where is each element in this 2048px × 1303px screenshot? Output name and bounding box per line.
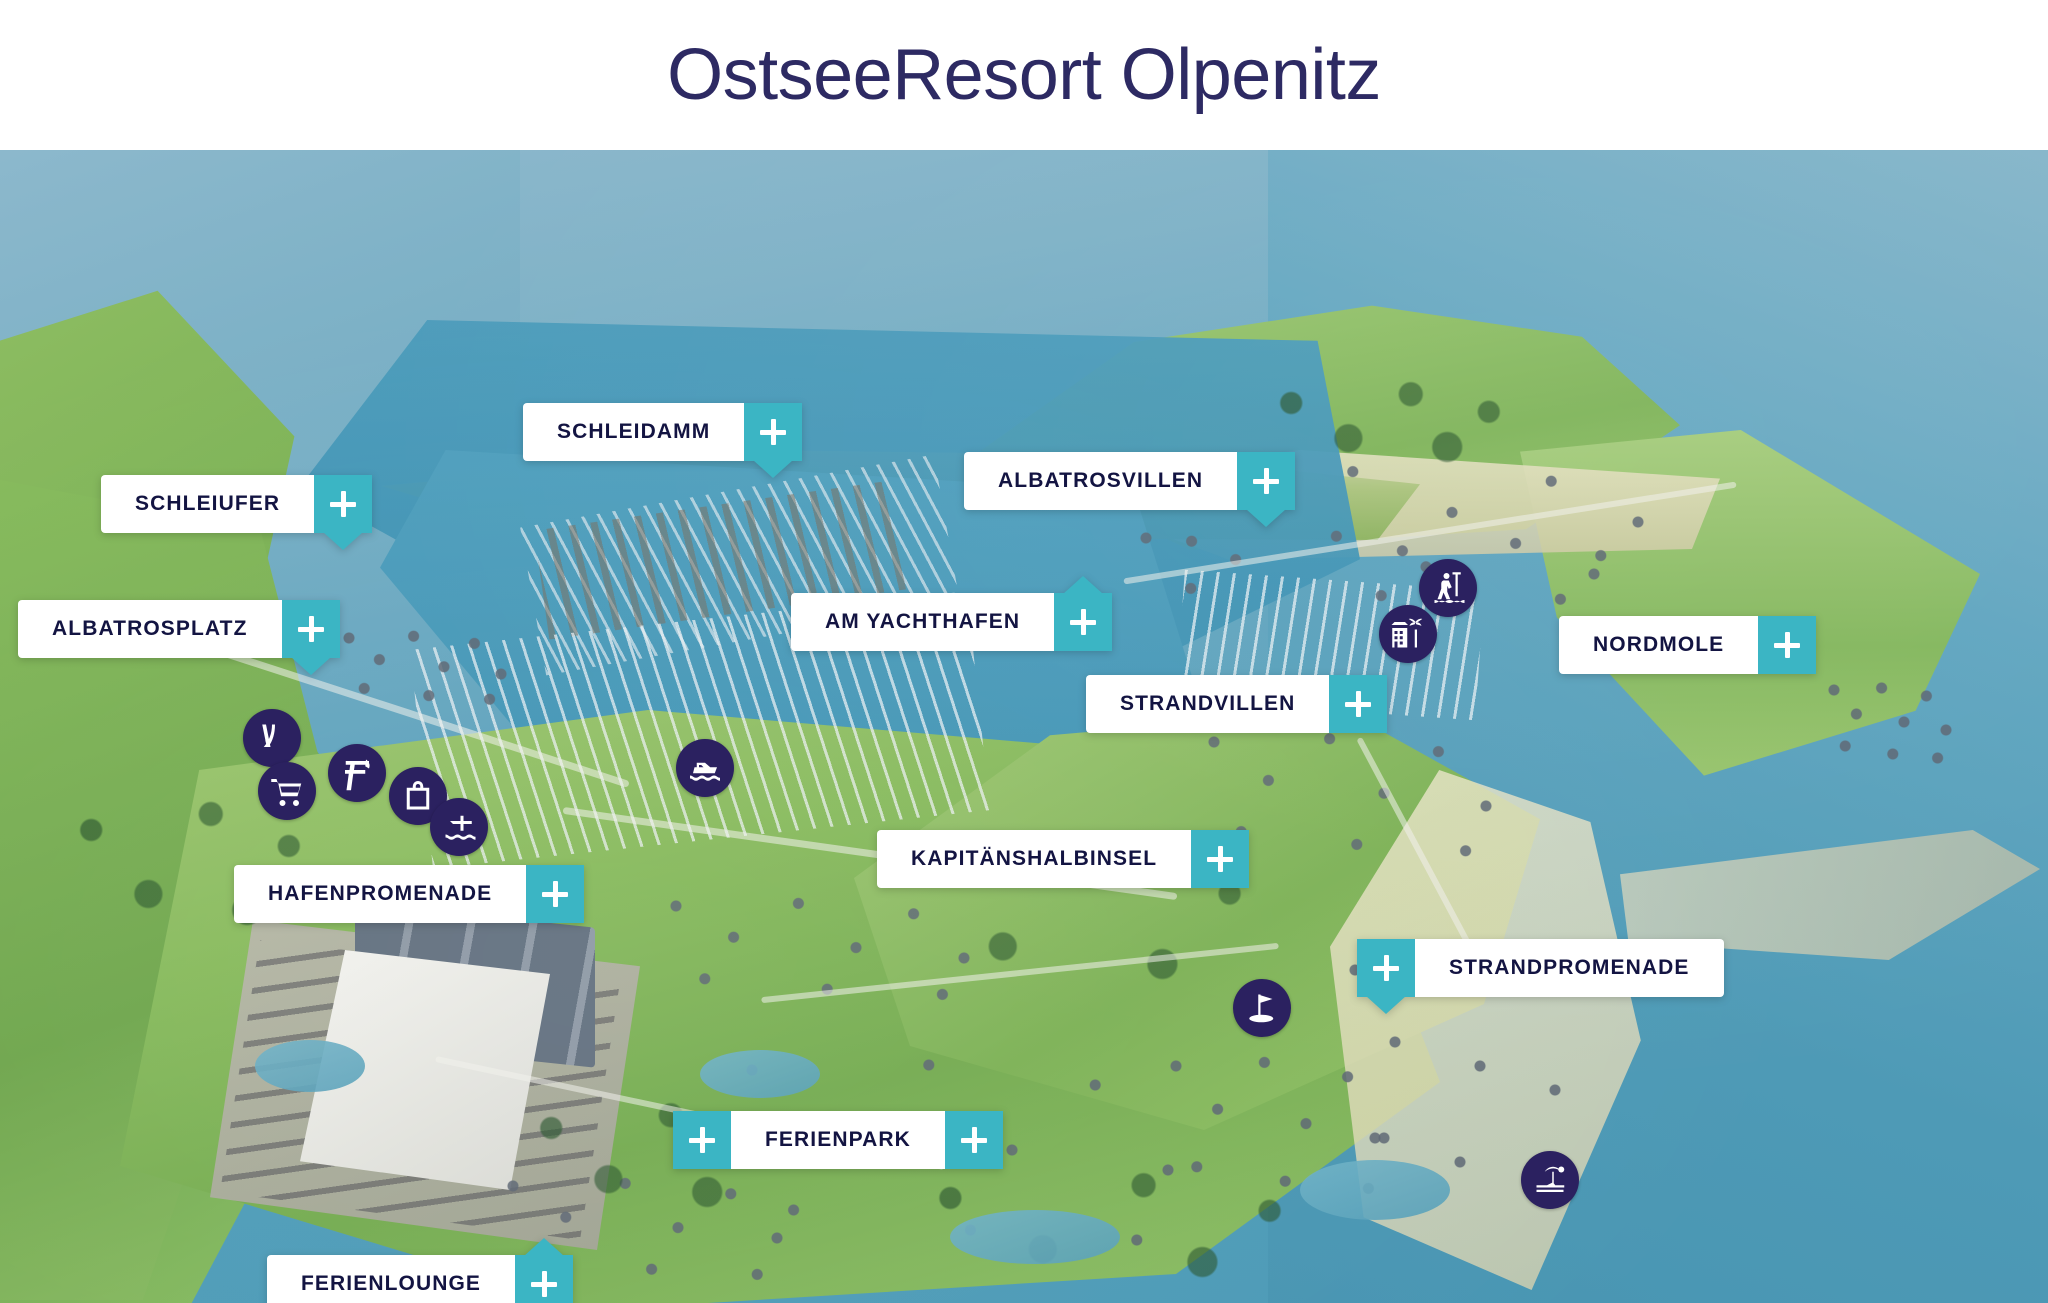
plus-glyph: [542, 881, 568, 907]
poi-marker-beach[interactable]: [1521, 1151, 1579, 1209]
plus-icon[interactable]: [1357, 939, 1415, 997]
map-hotspot-strandpromenade[interactable]: STRANDPROMENADE: [1357, 939, 1724, 997]
motor-yacht-icon: [687, 750, 723, 786]
plus-icon[interactable]: [673, 1111, 731, 1169]
poi-marker-waterslide[interactable]: [243, 709, 301, 767]
hotspot-label: ALBATROSVILLEN: [964, 452, 1237, 510]
plus-glyph: [961, 1127, 987, 1153]
hotspot-label: SCHLEIUFER: [101, 475, 314, 533]
hotspot-label: HAFENPROMENADE: [234, 865, 526, 923]
poi-marker-resort-hotel[interactable]: [1379, 605, 1437, 663]
plus-glyph: [298, 616, 324, 642]
plus-glyph: [1253, 468, 1279, 494]
plus-glyph: [760, 419, 786, 445]
plus-icon[interactable]: [314, 475, 372, 533]
paddleboard-icon: [1430, 570, 1466, 606]
poi-marker-paddleboard[interactable]: [1419, 559, 1477, 617]
poi-marker-marina[interactable]: [676, 739, 734, 797]
hotspot-label: STRANDPROMENADE: [1415, 939, 1724, 997]
plus-glyph: [1373, 955, 1399, 981]
poi-marker-restaurant[interactable]: [328, 744, 386, 802]
hotspot-label: NORDMOLE: [1559, 616, 1758, 674]
hotspot-label: SCHLEIDAMM: [523, 403, 744, 461]
hotspot-label: KAPITÄNSHALBINSEL: [877, 830, 1191, 888]
poi-marker-supermarket[interactable]: [258, 762, 316, 820]
plus-icon[interactable]: [744, 403, 802, 461]
hotspot-label: FERIENPARK: [731, 1111, 945, 1169]
hotspot-label: ALBATROSPLATZ: [18, 600, 282, 658]
map-hotspot-albatrosplatz[interactable]: ALBATROSPLATZ: [18, 600, 340, 658]
map-hotspot-ferienpark[interactable]: FERIENPARK: [673, 1111, 1003, 1169]
hotspot-label: AM YACHTHAFEN: [791, 593, 1054, 651]
plus-glyph: [1774, 632, 1800, 658]
plus-icon[interactable]: [282, 600, 340, 658]
plus-glyph: [1207, 846, 1233, 872]
map-hotspot-hafenpromenade[interactable]: HAFENPROMENADE: [234, 865, 584, 923]
hotel-palm-icon: [1390, 616, 1426, 652]
shopping-cart-icon: [269, 773, 305, 809]
boat-ramp-icon: [441, 809, 477, 845]
beach-umbrella-icon: [1532, 1162, 1568, 1198]
plus-icon[interactable]: [945, 1111, 1003, 1169]
map-hotspot-schleidamm[interactable]: SCHLEIDAMM: [523, 403, 802, 461]
plus-icon[interactable]: [515, 1255, 573, 1303]
fork-knife-f-icon: [339, 755, 375, 791]
poi-marker-golf[interactable]: [1233, 979, 1291, 1037]
plus-glyph: [330, 491, 356, 517]
plus-glyph: [1345, 691, 1371, 717]
golf-flag-icon: [1244, 990, 1280, 1026]
map-hotspot-nordmole[interactable]: NORDMOLE: [1559, 616, 1816, 674]
shopping-bag-icon: [400, 778, 436, 814]
plus-icon[interactable]: [1758, 616, 1816, 674]
hotspot-label: STRANDVILLEN: [1086, 675, 1329, 733]
water-slide-icon: [254, 720, 290, 756]
plus-icon[interactable]: [1329, 675, 1387, 733]
plus-icon[interactable]: [1054, 593, 1112, 651]
page-title: OstseeResort Olpenitz: [667, 34, 1381, 116]
map-hotspot-kapitaenshalbinsel[interactable]: KAPITÄNSHALBINSEL: [877, 830, 1249, 888]
map-hotspot-am-yachthafen[interactable]: AM YACHTHAFEN: [791, 593, 1112, 651]
plus-icon[interactable]: [526, 865, 584, 923]
poi-marker-slipway[interactable]: [430, 798, 488, 856]
resort-map[interactable]: SCHLEIDAMMSCHLEIUFERALBATROSVILLENALBATR…: [0, 150, 2048, 1303]
map-artwork: [0, 150, 2048, 1303]
plus-glyph: [1070, 609, 1096, 635]
plus-icon[interactable]: [1237, 452, 1295, 510]
map-hotspot-ferienlounge[interactable]: FERIENLOUNGE: [267, 1255, 573, 1303]
map-hotspot-strandvillen[interactable]: STRANDVILLEN: [1086, 675, 1387, 733]
plus-glyph: [531, 1271, 557, 1297]
hotspot-label: FERIENLOUNGE: [267, 1255, 515, 1303]
page-root: OstseeResort Olpenitz: [0, 0, 2048, 1303]
map-hotspot-schleiufer[interactable]: SCHLEIUFER: [101, 475, 372, 533]
plus-glyph: [689, 1127, 715, 1153]
page-header: OstseeResort Olpenitz: [0, 0, 2048, 150]
map-hotspot-albatrosvillen[interactable]: ALBATROSVILLEN: [964, 452, 1295, 510]
plus-icon[interactable]: [1191, 830, 1249, 888]
